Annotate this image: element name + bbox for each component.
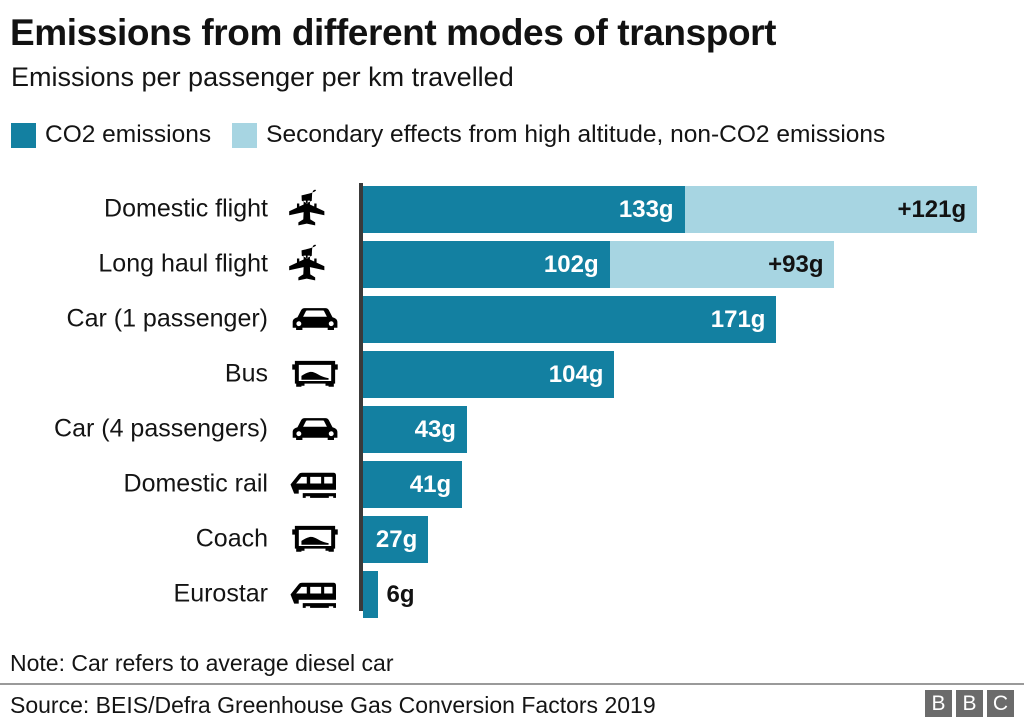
- chart-source: Source: BEIS/Defra Greenhouse Gas Conver…: [10, 692, 656, 719]
- footer-divider: [0, 683, 1024, 685]
- bar-row: Car (1 passenger)171g: [0, 293, 1024, 345]
- bar-stack: 41g: [363, 461, 462, 508]
- plot-area: Domestic flight133g+121gLong haul flight…: [0, 183, 1024, 613]
- bar-row: Eurostar6g: [0, 568, 1024, 620]
- bar-row-label: Domestic rail: [124, 470, 268, 499]
- legend-item-label: Secondary effects from high altitude, no…: [266, 121, 885, 149]
- bar-row: Bus104g: [0, 348, 1024, 400]
- bar-segment-secondary: +121g: [685, 186, 978, 233]
- bar-segment-co2: 102g: [363, 241, 610, 288]
- bar-stack: 27g: [363, 516, 428, 563]
- plane-icon: [287, 242, 343, 286]
- bus-icon: [287, 517, 343, 561]
- bar-value-label: 6g: [387, 583, 415, 607]
- bar-value-label: 102g: [544, 253, 610, 277]
- bar-value-label: 27g: [376, 528, 428, 552]
- chart-note: Note: Car refers to average diesel car: [10, 650, 394, 677]
- car-icon: [287, 297, 343, 341]
- legend-item: CO2 emissions: [11, 121, 211, 149]
- chart-page: Emissions from different modes of transp…: [0, 0, 1024, 720]
- bar-value-label: +93g: [768, 253, 834, 277]
- train-icon: [287, 572, 343, 616]
- bar-stack: 6g: [363, 571, 378, 618]
- bar-segment-co2: 104g: [363, 351, 614, 398]
- bar-segment-co2: 6g: [363, 571, 378, 618]
- bar-row-label: Eurostar: [174, 580, 268, 609]
- plane-icon: [287, 187, 343, 231]
- legend-swatch-icon: [11, 123, 36, 148]
- bar-segment-co2: 171g: [363, 296, 776, 343]
- bar-row-label: Domestic flight: [104, 195, 268, 224]
- bar-value-label: 41g: [410, 473, 462, 497]
- bbc-logo-letter: C: [987, 690, 1014, 717]
- bar-segment-co2: 41g: [363, 461, 462, 508]
- bar-row-label: Car (1 passenger): [67, 305, 268, 334]
- bbc-logo-letter: B: [956, 690, 983, 717]
- bar-row-label: Coach: [196, 525, 268, 554]
- page-subtitle: Emissions per passenger per km travelled: [11, 62, 514, 93]
- bar-row: Domestic rail41g: [0, 458, 1024, 510]
- bar-stack: 133g+121g: [363, 186, 977, 233]
- bar-segment-co2: 27g: [363, 516, 428, 563]
- bus-icon: [287, 352, 343, 396]
- bar-stack: 43g: [363, 406, 467, 453]
- bar-row-label: Long haul flight: [98, 250, 268, 279]
- bar-row: Car (4 passengers)43g: [0, 403, 1024, 455]
- bar-row-label: Bus: [225, 360, 268, 389]
- bar-stack: 102g+93g: [363, 241, 834, 288]
- bar-row-label: Car (4 passengers): [54, 415, 268, 444]
- page-title: Emissions from different modes of transp…: [10, 12, 776, 54]
- train-icon: [287, 462, 343, 506]
- legend-swatch-icon: [232, 123, 257, 148]
- bar-value-label: 43g: [415, 418, 467, 442]
- legend-item: Secondary effects from high altitude, no…: [232, 121, 885, 149]
- car-icon: [287, 407, 343, 451]
- bar-value-label: 133g: [619, 198, 685, 222]
- bar-stack: 104g: [363, 351, 614, 398]
- bar-value-label: 104g: [549, 363, 615, 387]
- bar-segment-secondary: +93g: [610, 241, 835, 288]
- legend-item-label: CO2 emissions: [45, 121, 211, 149]
- bar-row: Coach27g: [0, 513, 1024, 565]
- bbc-logo: BBC: [925, 690, 1014, 717]
- bar-segment-co2: 133g: [363, 186, 685, 233]
- chart-legend: CO2 emissionsSecondary effects from high…: [11, 120, 885, 150]
- bar-value-label: +121g: [897, 198, 977, 222]
- bar-row: Domestic flight133g+121g: [0, 183, 1024, 235]
- bar-segment-co2: 43g: [363, 406, 467, 453]
- bar-stack: 171g: [363, 296, 776, 343]
- bar-value-label: 171g: [711, 308, 777, 332]
- bbc-logo-letter: B: [925, 690, 952, 717]
- bar-row: Long haul flight102g+93g: [0, 238, 1024, 290]
- y-axis-line: [359, 183, 363, 611]
